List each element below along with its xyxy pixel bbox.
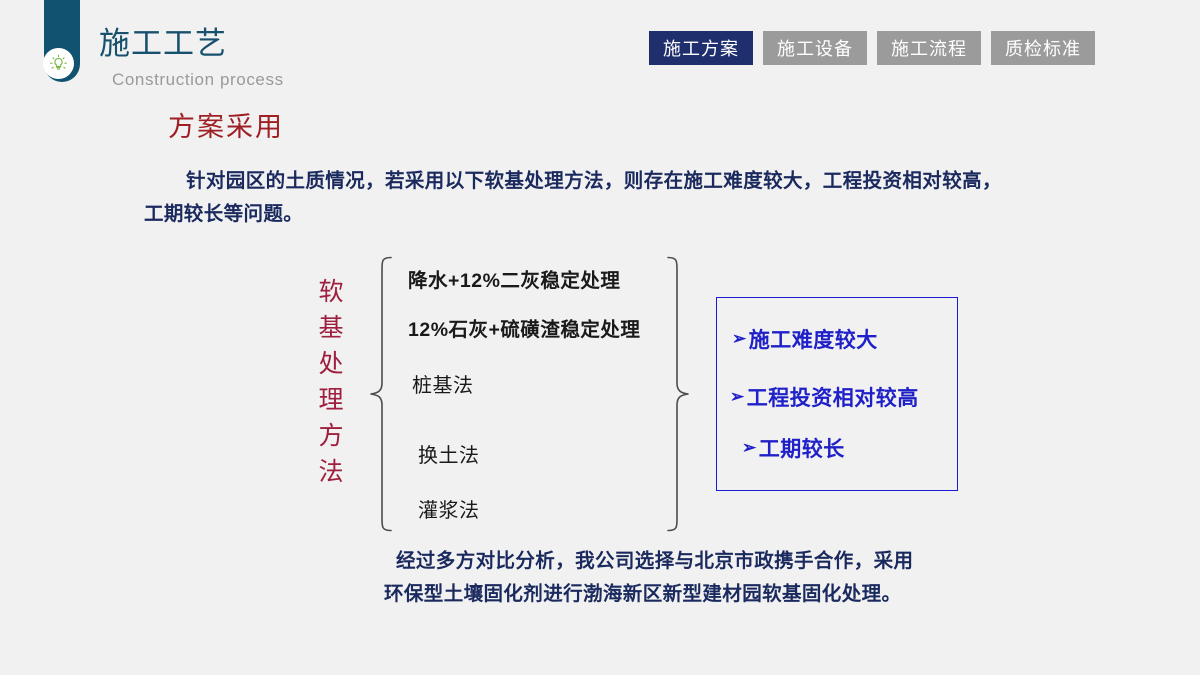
- lightbulb-icon: [43, 48, 74, 79]
- group-label-soft-foundation-methods: 软 基 处 理 方 法: [311, 275, 351, 491]
- list-item: 12%石灰+硫磺渣稳定处理: [408, 313, 640, 342]
- group-label-char: 基: [311, 311, 351, 347]
- list-item-label: 施工难度较大: [749, 324, 878, 354]
- drawbacks-callout-box: ➢ 施工难度较大 ➢ 工程投资相对较高 ➢ 工期较长: [716, 297, 958, 491]
- tab-construction-plan[interactable]: 施工方案: [649, 31, 753, 65]
- group-label-char: 软: [311, 275, 351, 311]
- tab-quality-standard[interactable]: 质检标准: [991, 31, 1095, 65]
- list-item: 桩基法: [412, 369, 474, 398]
- list-item: ➢ 施工难度较大: [732, 324, 878, 354]
- conclusion-line-2: 环保型土壤固化剂进行渤海新区新型建材园软基固化处理。: [340, 578, 1012, 611]
- intro-paragraph: 针对园区的土质情况，若采用以下软基处理方法，则存在施工难度较大，工程投资相对较高…: [144, 165, 1004, 231]
- right-curly-brace-icon: [667, 256, 689, 532]
- group-label-char: 理: [311, 383, 351, 419]
- list-item: ➢ 工程投资相对较高: [730, 382, 919, 412]
- list-item: 换土法: [418, 439, 480, 468]
- tab-construction-equipment[interactable]: 施工设备: [763, 31, 867, 65]
- conclusion-line-1: 经过多方对比分析，我公司选择与北京市政携手合作，采用: [396, 550, 913, 572]
- section-title: 方案采用: [168, 105, 284, 144]
- list-item-label: 工程投资相对较高: [747, 382, 919, 412]
- arrow-right-bullet-icon: ➢: [730, 388, 745, 405]
- group-label-char: 处: [311, 347, 351, 383]
- soft-foundation-method-list: 降水+12%二灰稳定处理 12%石灰+硫磺渣稳定处理 桩基法 换土法 灌浆法: [399, 256, 667, 532]
- group-label-char: 法: [311, 455, 351, 491]
- list-item: 灌浆法: [418, 494, 480, 523]
- left-curly-brace-icon: [370, 256, 392, 532]
- group-label-char: 方: [311, 419, 351, 455]
- page-title: 施工工艺: [99, 18, 227, 63]
- page-subtitle: Construction process: [112, 70, 284, 90]
- nav-tabs: 施工方案 施工设备 施工流程 质检标准: [649, 31, 1095, 65]
- conclusion-paragraph: 经过多方对比分析，我公司选择与北京市政携手合作，采用 环保型土壤固化剂进行渤海新…: [352, 545, 1012, 611]
- tab-construction-process[interactable]: 施工流程: [877, 31, 981, 65]
- list-item: 降水+12%二灰稳定处理: [408, 264, 620, 293]
- arrow-right-bullet-icon: ➢: [732, 330, 747, 347]
- list-item-label: 工期较长: [759, 433, 845, 463]
- arrow-right-bullet-icon: ➢: [742, 439, 757, 456]
- slide-canvas: 施工工艺 Construction process 施工方案 施工设备 施工流程…: [0, 0, 1200, 675]
- list-item: ➢ 工期较长: [742, 433, 845, 463]
